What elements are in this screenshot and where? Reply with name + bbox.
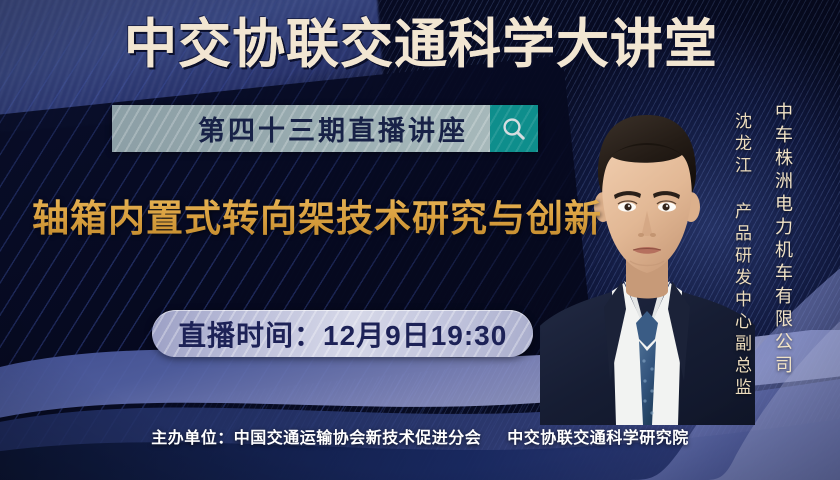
footer-organizer-label: 主办单位：	[151, 430, 234, 447]
page-title: 中交协联交通科学大讲堂	[124, 14, 718, 76]
livestream-time-badge: 直播时间：12月9日19:30	[152, 310, 533, 357]
search-icon	[490, 105, 538, 152]
footer-organizer-1: 中国交通运输协会新技术促进分会	[234, 430, 482, 447]
lecture-topic: 轴箱内置式转向架技术研究与创新	[32, 196, 602, 242]
livestream-time-label: 直播时间：12月9日19:30	[178, 314, 507, 354]
footer-organizers: 主办单位：中国交通运输协会新技术促进分会中交协联交通科学研究院	[0, 424, 840, 448]
speaker-company: 中车株洲电力机车有限公司	[770, 102, 796, 378]
episode-banner: 第四十三期直播讲座	[112, 105, 538, 152]
episode-banner-body: 第四十三期直播讲座	[112, 105, 490, 152]
episode-label: 第四十三期直播讲座	[198, 109, 468, 148]
livestream-poster: 中交协联交通科学大讲堂 第四十三期直播讲座 轴箱内置式转向架技术研究与创新 直播…	[0, 0, 840, 480]
speaker-name-title: 沈龙江 产品研发中心副总监	[729, 112, 754, 400]
footer-organizer-2: 中交协联交通科学研究院	[507, 430, 689, 447]
